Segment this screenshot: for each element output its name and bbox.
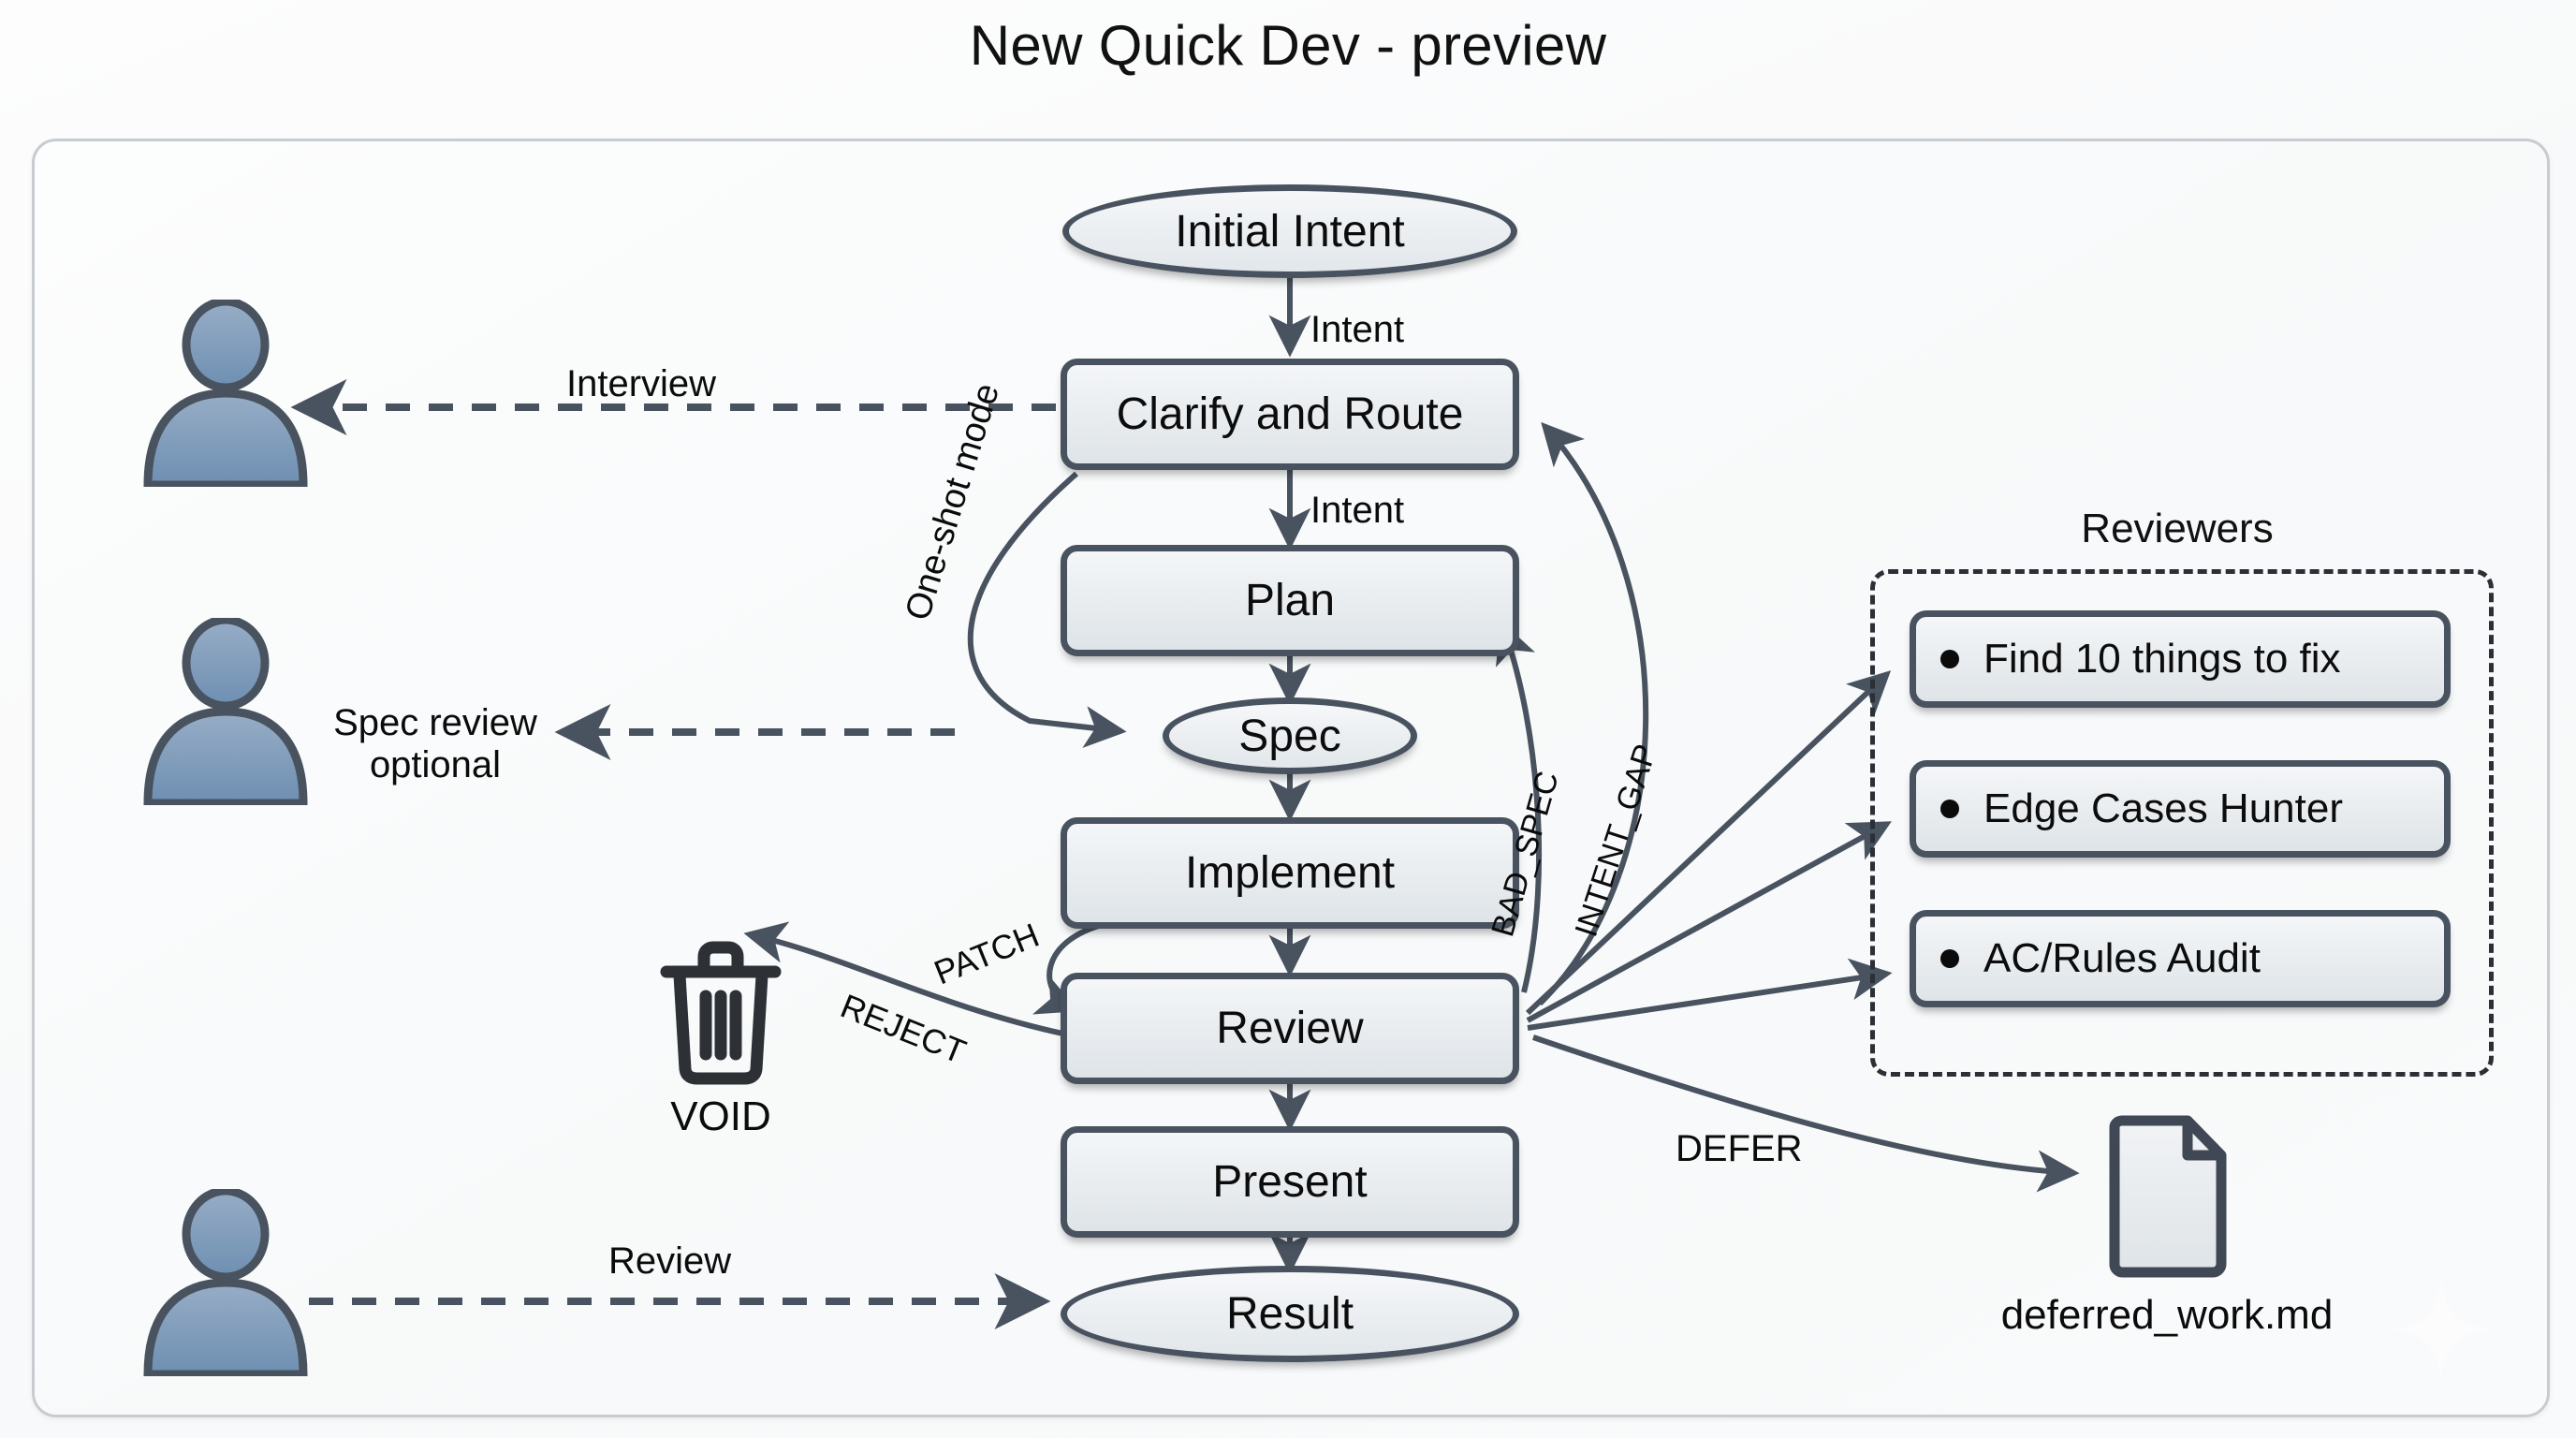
edge-label-spec-review-optional: Spec review optional (300, 702, 571, 786)
person-body-icon (148, 1283, 303, 1374)
node-present[interactable]: Present (1061, 1126, 1519, 1238)
node-implement[interactable]: Implement (1061, 817, 1519, 929)
reviewers-group-title: Reviewers (1870, 506, 2484, 552)
node-label: Result (1226, 1288, 1354, 1340)
bullet-icon (1940, 800, 1959, 818)
page-title: New Quick Dev - preview (0, 13, 2576, 78)
node-label: Review (1216, 1003, 1363, 1054)
trash-icon[interactable] (655, 938, 786, 1086)
file-icon[interactable] (2101, 1114, 2232, 1279)
bullet-icon (1940, 650, 1959, 668)
node-label: Clarify and Route (1117, 389, 1464, 440)
edge-label-defer: DEFER (1676, 1128, 1803, 1170)
reviewer-item-find-10-things-to-fix[interactable]: Find 10 things to fix (1910, 610, 2451, 708)
node-result[interactable]: Result (1061, 1266, 1519, 1362)
spec-review-line-2: optional (300, 744, 571, 786)
node-label: Plan (1245, 575, 1335, 626)
person-body-icon (148, 712, 303, 803)
node-clarify-and-route[interactable]: Clarify and Route (1061, 359, 1519, 470)
edge-label-review-human: Review (608, 1240, 731, 1283)
actor-interview[interactable] (139, 300, 313, 487)
node-review[interactable]: Review (1061, 973, 1519, 1084)
node-label: Implement (1185, 847, 1395, 899)
reviewer-label: Edge Cases Hunter (1983, 785, 2343, 832)
edge-label-intent-1: Intent (1310, 309, 1404, 351)
reviewer-label: Find 10 things to fix (1983, 636, 2341, 682)
reviewer-item-edge-cases-hunter[interactable]: Edge Cases Hunter (1910, 760, 2451, 858)
actor-spec-review[interactable] (139, 618, 313, 805)
file-body-icon (2115, 1121, 2221, 1272)
person-head-icon (186, 620, 265, 706)
person-head-icon (186, 1191, 265, 1277)
deferred-work-caption: deferred_work.md (1924, 1292, 2410, 1339)
void-caption: VOID (599, 1093, 842, 1140)
edge-label-intent-2: Intent (1310, 490, 1404, 532)
bullet-icon (1940, 949, 1959, 968)
node-label: Present (1212, 1156, 1367, 1208)
reviewer-item-ac-rules-audit[interactable]: AC/Rules Audit (1910, 910, 2451, 1007)
node-initial-intent[interactable]: Initial Intent (1062, 184, 1517, 278)
node-spec[interactable]: Spec (1163, 697, 1417, 774)
node-label: Initial Intent (1175, 206, 1404, 257)
actor-review[interactable] (139, 1189, 313, 1376)
diagram-root: New Quick Dev - preview (0, 0, 2576, 1438)
person-body-icon (148, 393, 303, 485)
edge-label-interview: Interview (566, 363, 716, 405)
node-label: Spec (1238, 711, 1340, 762)
node-plan[interactable]: Plan (1061, 545, 1519, 656)
person-head-icon (186, 301, 265, 388)
spec-review-line-1: Spec review (300, 702, 571, 744)
reviewer-label: AC/Rules Audit (1983, 935, 2261, 982)
